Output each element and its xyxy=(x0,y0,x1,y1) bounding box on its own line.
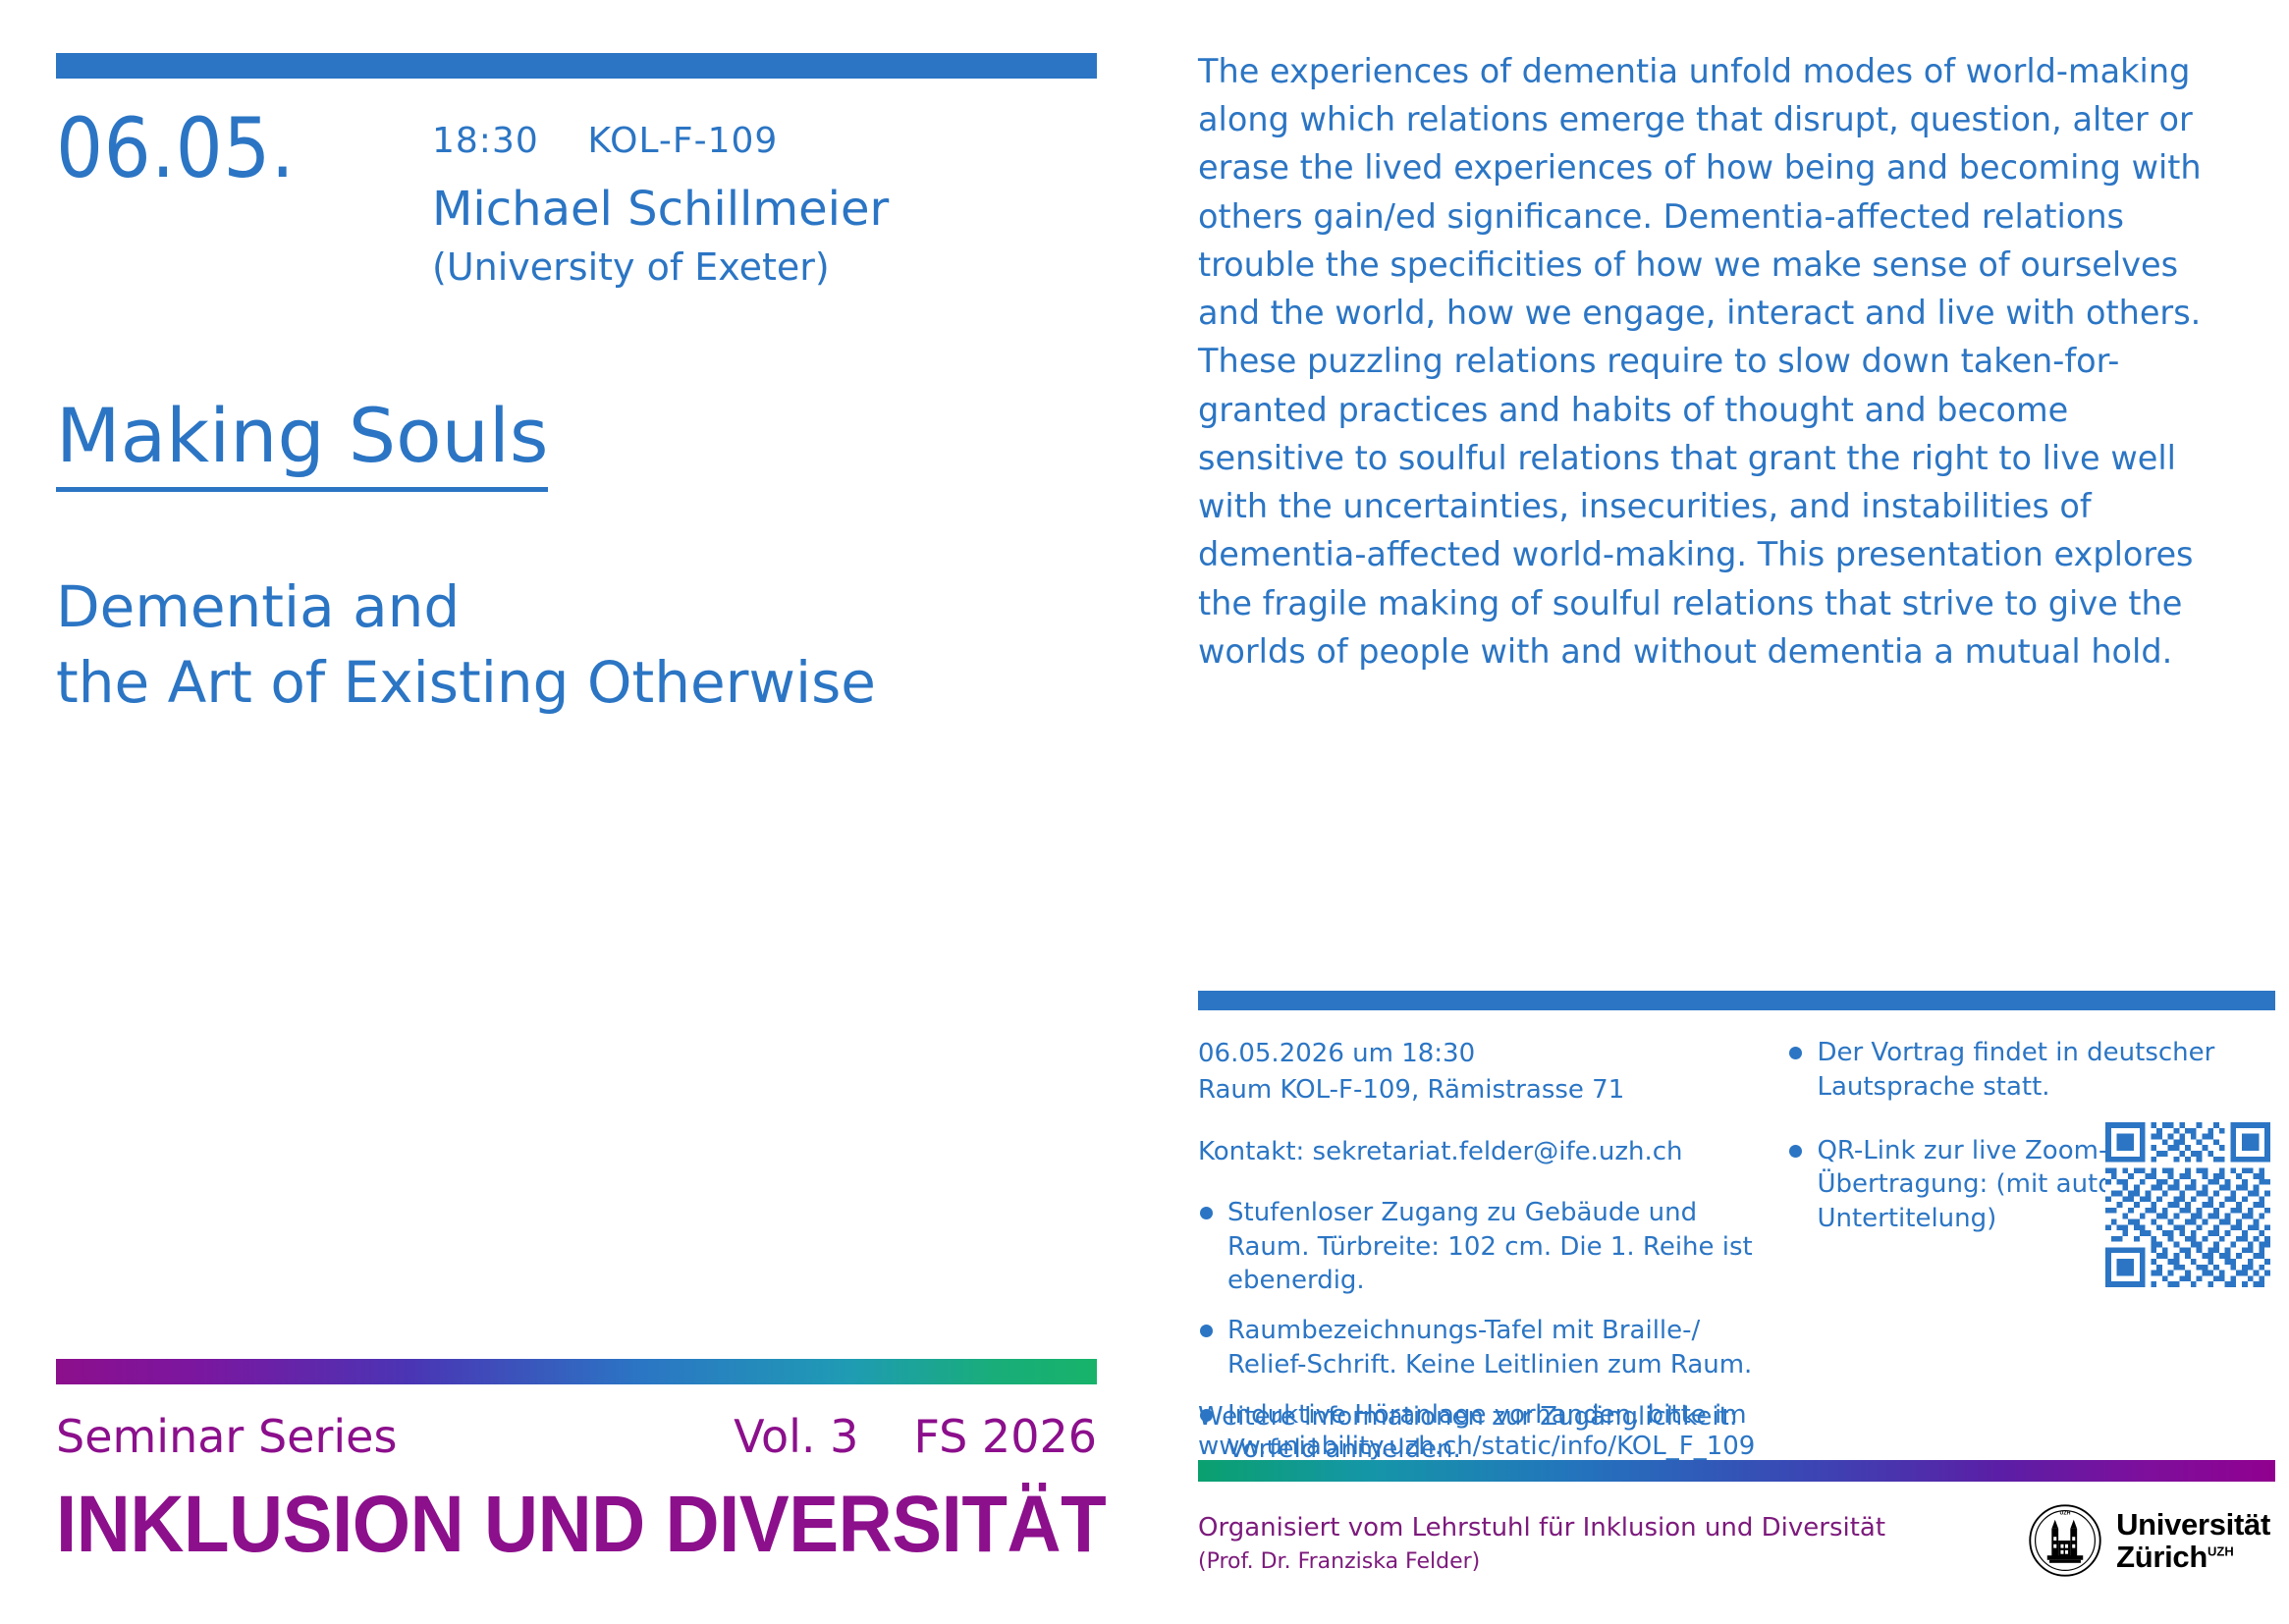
contact-email-line[interactable]: Kontakt: sekretariat.felder@ife.uzh.ch xyxy=(1198,1134,1771,1170)
series-brand-block: Seminar Series Vol. 3 FS 2026 INKLUSION … xyxy=(56,1359,1097,1571)
series-label: Seminar Series xyxy=(56,1410,397,1463)
poster-right-panel: The experiences of dementia unfold modes… xyxy=(1188,0,2289,1624)
list-item: Der Vortrag findet in deutscher Lautspra… xyxy=(1787,1036,2278,1105)
uzh-line-2: Zürich xyxy=(2116,1540,2207,1574)
series-brand-title: INKLUSION UND DIVERSITÄT xyxy=(56,1479,1024,1571)
event-poster: 06.05. 18:30 KOL-F-109 Michael Schillmei… xyxy=(0,0,2289,1624)
series-volume: Vol. 3 xyxy=(734,1410,858,1463)
footer-gradient-bar xyxy=(1198,1460,2275,1482)
svg-text:UZH: UZH xyxy=(2060,1510,2071,1516)
talk-subtitle: Dementia and the Art of Existing Otherwi… xyxy=(56,569,1117,720)
qr-code-icon[interactable] xyxy=(2105,1122,2270,1287)
speaker-name: Michael Schillmeier xyxy=(432,180,889,239)
time-and-room: 18:30 KOL-F-109 xyxy=(432,120,889,162)
uzh-seal-icon: UZH xyxy=(2028,1503,2102,1578)
series-semester: FS 2026 xyxy=(913,1410,1097,1463)
speaker-affiliation: (University of Exeter) xyxy=(432,244,889,292)
list-item: Stufenloser Zugang zu Gebäude und Raum. … xyxy=(1198,1196,1771,1298)
poster-left-panel: 06.05. 18:30 KOL-F-109 Michael Schillmei… xyxy=(0,0,1188,1624)
bullet-dot-icon xyxy=(1200,1207,1213,1219)
bullet-dot-icon xyxy=(1789,1145,1802,1158)
uzh-logo: UZH Universität ZürichUZH xyxy=(2028,1503,2270,1578)
event-location: Raum KOL-F-109, Rämistrasse 71 xyxy=(1198,1072,1771,1109)
talk-subtitle-line-2: the Art of Existing Otherwise xyxy=(56,645,1117,721)
talk-title: Making Souls xyxy=(56,397,548,492)
uzh-wordmark: Universität ZürichUZH xyxy=(2116,1508,2270,1574)
organizer-line-1: Organisiert vom Lehrstuhl für Inklusion … xyxy=(1198,1511,1885,1545)
language-bullet-text: Der Vortrag findet in deutscher Lautspra… xyxy=(1817,1038,2214,1102)
bullet-dot-icon xyxy=(1200,1325,1213,1337)
accessibility-bullet-text: Raumbezeichnungs-Tafel mit Braille-/ Rel… xyxy=(1227,1316,1752,1380)
talk-subtitle-line-1: Dementia and xyxy=(56,569,1117,645)
brand-meta-row: Seminar Series Vol. 3 FS 2026 xyxy=(56,1410,1097,1463)
accessibility-info-link[interactable]: Weitere Informationen zur Zugänglichkeit… xyxy=(1198,1402,2278,1461)
organizer-block: Organisiert vom Lehrstuhl für Inklusion … xyxy=(1198,1511,1885,1577)
uzh-line-2-wrap: ZürichUZH xyxy=(2116,1541,2270,1573)
abstract-text: The experiences of dementia unfold modes… xyxy=(1198,47,2224,676)
organizer-line-2: (Prof. Dr. Franziska Felder) xyxy=(1198,1547,1885,1577)
info-blue-rule xyxy=(1198,991,2275,1010)
list-item: Raumbezeichnungs-Tafel mit Braille-/ Rel… xyxy=(1198,1314,1771,1382)
speaker-meta-block: 18:30 KOL-F-109 Michael Schillmeier (Uni… xyxy=(432,120,889,292)
accessibility-bullet-text: Stufenloser Zugang zu Gebäude und Raum. … xyxy=(1227,1198,1753,1296)
event-datetime-block: 06.05.2026 um 18:30 Raum KOL-F-109, Rämi… xyxy=(1198,1036,1771,1109)
event-datetime: 06.05.2026 um 18:30 xyxy=(1198,1036,1771,1072)
brand-gradient-bar xyxy=(56,1359,1097,1384)
uzh-line-1: Universität xyxy=(2116,1508,2270,1541)
top-blue-rule xyxy=(56,53,1097,79)
bullet-dot-icon xyxy=(1789,1047,1802,1059)
footer-row: Organisiert vom Lehrstuhl für Inklusion … xyxy=(1198,1511,2278,1578)
uzh-superscript: UZH xyxy=(2207,1544,2234,1559)
